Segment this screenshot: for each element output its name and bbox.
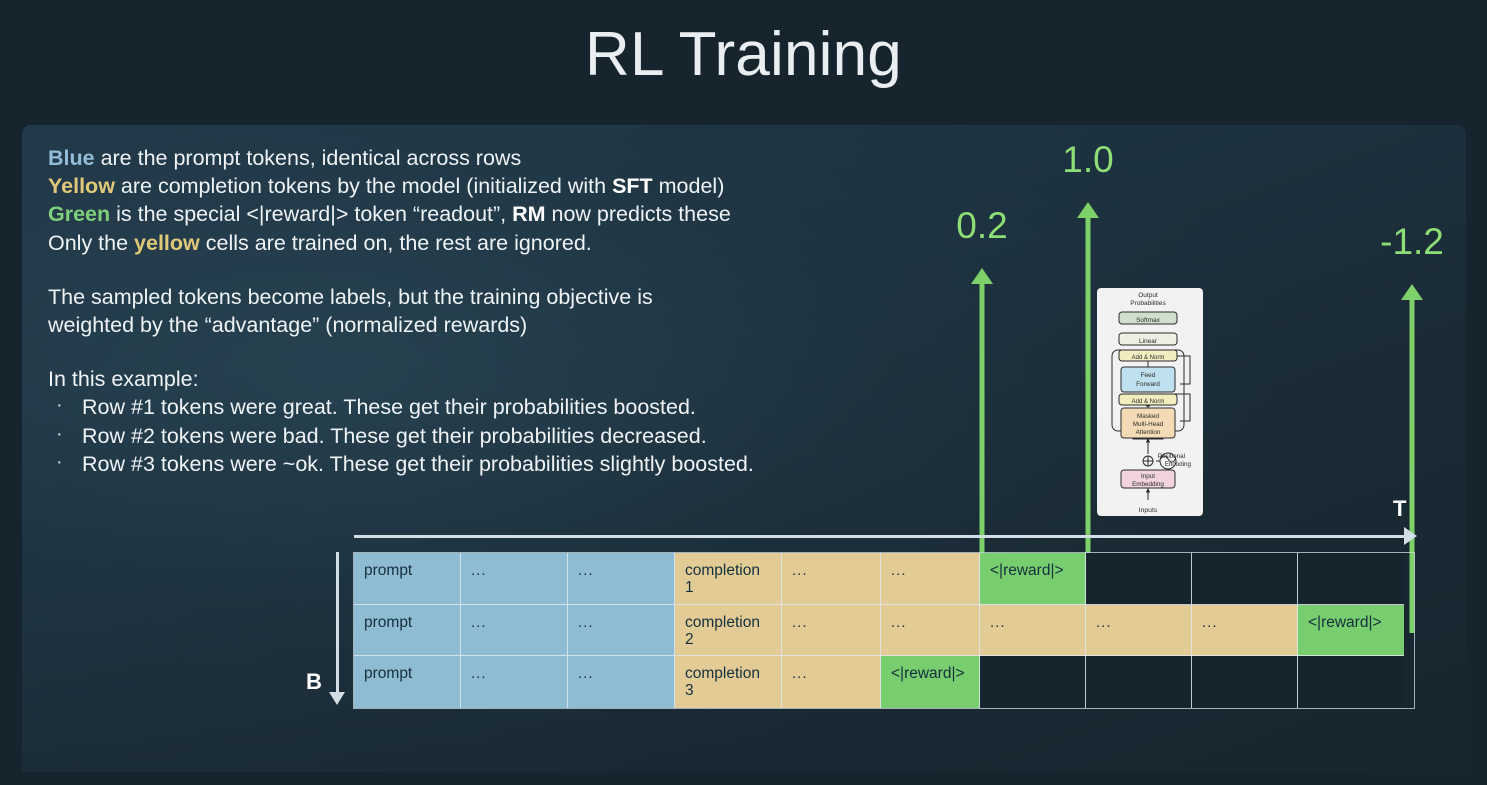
token-cell-yellow: ...: [881, 605, 980, 657]
bullet-dot-icon: ·: [56, 391, 63, 419]
tfx-attn-line2: Multi-Head: [1133, 421, 1164, 428]
token-cell-blue: ...: [568, 605, 675, 657]
tfx-output-line2: Probabilities: [1130, 300, 1166, 307]
bullet-dot-icon: ·: [56, 448, 63, 476]
legend-sft-word: SFT: [612, 174, 653, 198]
transformer-svg: Output Probabilities Softmax Linear Add …: [1097, 288, 1203, 516]
tfx-softmax: Softmax: [1136, 317, 1161, 324]
tfx-output-line1: Output: [1138, 292, 1158, 299]
time-axis-line: [354, 535, 1412, 538]
legend-yellow-word: Yellow: [48, 174, 115, 198]
token-cell-yellow: completion1: [675, 553, 782, 605]
time-axis-arrowhead-icon: [1404, 527, 1417, 545]
token-cell-yellow: ...: [1086, 605, 1192, 657]
tfx-inputemb-line2: Embedding: [1132, 481, 1164, 488]
token-cell-empty: [1298, 553, 1404, 605]
token-grid: prompt......completion1......<|reward|>p…: [353, 552, 1415, 709]
token-cell-yellow: completion3: [675, 656, 782, 708]
legend-rm-word: RM: [512, 202, 545, 226]
token-cell-blue: ...: [461, 656, 568, 708]
tfx-linear: Linear: [1139, 338, 1158, 345]
time-axis-label: T: [1393, 496, 1406, 522]
token-cell-blue: prompt: [354, 553, 461, 605]
tfx-addnorm-1: Add & Norm: [1132, 355, 1165, 361]
example-bullet-2: ·Row #2 tokens were bad. These get their…: [48, 422, 878, 450]
token-cell-yellow: ...: [980, 605, 1086, 657]
token-cell-empty: [980, 656, 1086, 708]
tfx-addnorm-2: Add & Norm: [1132, 399, 1165, 405]
token-cell-yellow: ...: [881, 553, 980, 605]
tfx-ff-line1: Feed: [1141, 372, 1156, 379]
batch-axis-label: B: [306, 669, 322, 695]
tfx-attn-line3: Attention: [1136, 429, 1161, 436]
token-cell-blue: prompt: [354, 605, 461, 657]
legend-line-blue: Blue are the prompt tokens, identical ac…: [48, 146, 521, 170]
bullet-dot-icon: ·: [56, 420, 63, 448]
body-text-block: Blue are the prompt tokens, identical ac…: [48, 144, 878, 478]
tfx-ff-line2: Forward: [1136, 381, 1160, 388]
reward-arrowhead-icon-3: [1401, 284, 1423, 300]
token-cell-blue: ...: [568, 553, 675, 605]
reward-arrow-shaft-2: [1086, 215, 1091, 581]
token-cell-empty: [1086, 656, 1192, 708]
token-cell-blue: ...: [461, 605, 568, 657]
legend-green-word: Green: [48, 202, 110, 226]
legend-line-trained: Only the yellow cells are trained on, th…: [48, 231, 592, 255]
token-grid-row-1: prompt......completion1......<|reward|>: [354, 553, 1414, 605]
tfx-attn-line1: Masked: [1137, 413, 1160, 420]
reward-value-label-1: 0.2: [956, 206, 1007, 246]
token-cell-blue: prompt: [354, 656, 461, 708]
advantage-paragraph: The sampled tokens become labels, but th…: [48, 285, 653, 337]
token-cell-yellow: ...: [782, 656, 881, 708]
token-cell-blue: ...: [461, 553, 568, 605]
token-cell-empty: [1298, 656, 1404, 708]
token-cell-yellow: ...: [782, 553, 881, 605]
reward-arrowhead-icon-1: [971, 268, 993, 284]
tfx-inputemb-line1: Input: [1141, 473, 1155, 480]
batch-axis-line: [336, 552, 339, 694]
legend-blue-word: Blue: [48, 146, 95, 170]
example-bullet-3: ·Row #3 tokens were ~ok. These get their…: [48, 450, 878, 478]
tfx-inputs: Inputs: [1139, 507, 1158, 514]
tfx-pos-line2: Encoding: [1165, 461, 1192, 468]
token-cell-yellow: completion2: [675, 605, 782, 657]
legend-line-green: Green is the special <|reward|> token “r…: [48, 202, 731, 226]
legend-line-yellow: Yellow are completion tokens by the mode…: [48, 174, 724, 198]
page-title: RL Training: [0, 12, 1487, 98]
token-cell-yellow: ...: [782, 605, 881, 657]
token-cell-green: <|reward|>: [1298, 605, 1404, 657]
token-cell-empty: [1086, 553, 1192, 605]
transformer-diagram: Output Probabilities Softmax Linear Add …: [1097, 288, 1203, 516]
reward-arrowhead-icon-2: [1077, 202, 1099, 218]
tfx-pos-line1: Positional: [1158, 453, 1185, 460]
token-cell-empty: [1192, 656, 1298, 708]
token-grid-row-3: prompt......completion3...<|reward|>: [354, 656, 1414, 708]
slide-root: RL Training Blue are the prompt tokens, …: [0, 0, 1487, 785]
token-cell-blue: ...: [568, 656, 675, 708]
token-cell-green: <|reward|>: [881, 656, 980, 708]
reward-value-label-3: -1.2: [1380, 222, 1444, 262]
reward-value-label-2: 1.0: [1062, 140, 1113, 180]
legend-yellow-inline: yellow: [134, 231, 200, 255]
token-grid-row-2: prompt......completion2...............<|…: [354, 605, 1414, 657]
batch-axis-arrowhead-icon: [329, 692, 345, 705]
example-heading: In this example:: [48, 367, 199, 391]
token-cell-empty: [1192, 553, 1298, 605]
example-bullet-1: ·Row #1 tokens were great. These get the…: [48, 393, 878, 421]
token-cell-yellow: ...: [1192, 605, 1298, 657]
token-cell-green: <|reward|>: [980, 553, 1086, 605]
